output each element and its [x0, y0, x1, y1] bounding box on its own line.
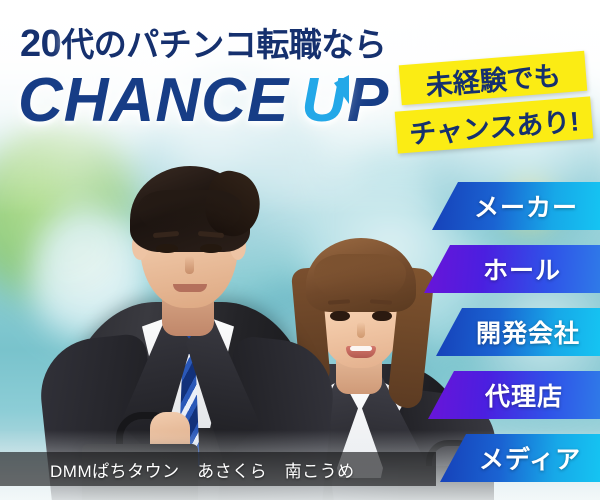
logo-chance-up: CHANCEUP	[18, 70, 389, 132]
logo-word-chance: CHANCE	[18, 66, 289, 135]
logo-letter-p: P	[347, 66, 389, 135]
headline-rest: 代のパチンコ転職なら	[61, 26, 386, 63]
category-button-agency[interactable]: 代理店	[428, 371, 600, 419]
advertisement-banner[interactable]: 20代のパチンコ転職なら CHANCEUP 未経験でも チャンスあり! メーカー…	[0, 0, 600, 500]
category-button-hall[interactable]: ホール	[424, 245, 600, 293]
category-label: ホール	[483, 251, 561, 287]
category-label: メーカー	[474, 188, 578, 224]
headline: 20代のパチンコ転職なら	[20, 18, 386, 66]
logo-letter-u: U	[301, 66, 347, 135]
category-button-maker[interactable]: メーカー	[432, 182, 600, 230]
caption-text: DMMぱちタウン あさくら 南こうめ	[0, 457, 355, 482]
category-label: 代理店	[485, 377, 563, 413]
headline-lead: 20	[20, 23, 61, 65]
category-button-media[interactable]: メディア	[440, 434, 600, 482]
category-label: メディア	[479, 440, 581, 476]
caption-bar: DMMぱちタウン あさくら 南こうめ	[0, 452, 436, 486]
category-button-development-company[interactable]: 開発会社	[436, 308, 600, 356]
category-label: 開発会社	[476, 314, 580, 350]
